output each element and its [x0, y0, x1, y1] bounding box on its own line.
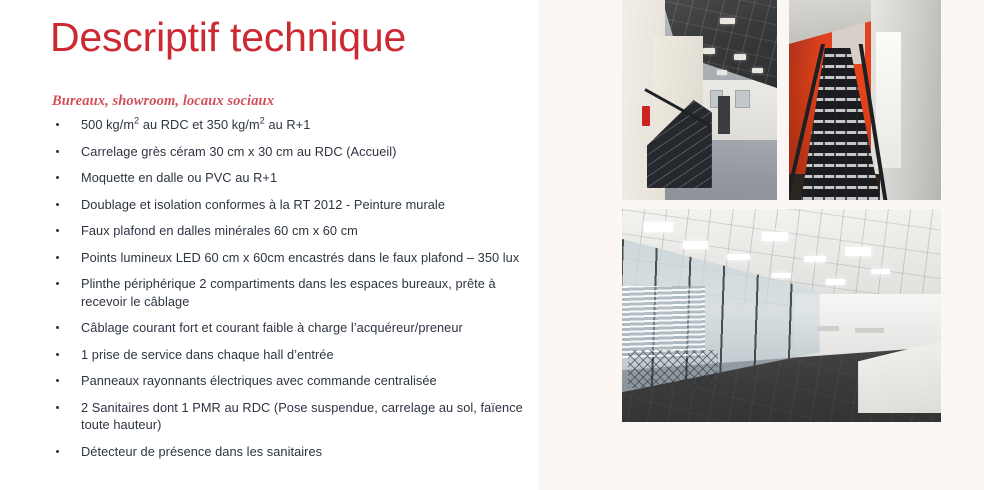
hall-ceiling-light: [752, 68, 763, 73]
bullet-dot-icon: [56, 256, 59, 259]
list-item-text: Carrelage grès céram 30 cm x 30 cm au RD…: [81, 144, 396, 159]
bullet-dot-icon: [56, 176, 59, 179]
office-led-panel: [871, 269, 890, 274]
list-item: Câblage courant fort et courant faible à…: [50, 319, 528, 337]
bullet-dot-icon: [56, 326, 59, 329]
list-item: 500 kg/m2 au RDC et 350 kg/m2 au R+1: [50, 116, 528, 134]
bullet-dot-icon: [56, 379, 59, 382]
photo-entrance-hall: [622, 0, 777, 200]
list-item-text: Points lumineux LED 60 cm x 60cm encastr…: [81, 250, 519, 265]
hall-ceiling-light: [703, 48, 715, 54]
photo-red-stairwell: [789, 0, 941, 200]
list-item: Détecteur de présence dans les sanitaire…: [50, 443, 528, 461]
stairwell-wall-recess: [876, 32, 902, 168]
list-item-text: 1 prise de service dans chaque hall d’en…: [81, 347, 334, 362]
hall-ceiling-light: [734, 54, 746, 60]
office-radiator: [817, 326, 839, 331]
bullet-dot-icon: [56, 353, 59, 356]
office-mesh-panel: [628, 350, 717, 388]
slide-root: Descriptif technique Bureaux, showroom, …: [0, 0, 984, 490]
section-subtitle: Bureaux, showroom, locaux sociaux: [52, 93, 274, 110]
list-item-text: Panneaux rayonnants électriques avec com…: [81, 373, 437, 388]
list-item-text: 500 kg/m2 au RDC et 350 kg/m2 au R+1: [81, 117, 310, 132]
text-panel: Descriptif technique Bureaux, showroom, …: [0, 0, 538, 490]
list-item-text: Plinthe périphérique 2 compartiments dan…: [81, 276, 496, 309]
bullet-dot-icon: [56, 450, 59, 453]
bullet-dot-icon: [56, 203, 59, 206]
list-item-text: 2 Sanitaires dont 1 PMR au RDC (Pose sus…: [81, 400, 523, 433]
office-radiator: [855, 328, 884, 333]
office-led-panel: [727, 254, 749, 260]
page-title: Descriptif technique: [50, 10, 406, 64]
list-item: Carrelage grès céram 30 cm x 30 cm au RD…: [50, 143, 528, 161]
list-item: 1 prise de service dans chaque hall d’en…: [50, 346, 528, 364]
bullet-dot-icon: [56, 406, 59, 409]
office-window-blinds: [622, 286, 705, 358]
fire-extinguisher-icon: [642, 106, 650, 126]
office-led-panel: [826, 279, 845, 284]
hall-ceiling-light: [717, 70, 728, 75]
bullet-dot-icon: [56, 123, 59, 126]
list-item-text: Câblage courant fort et courant faible à…: [81, 320, 463, 335]
bullet-dot-icon: [56, 229, 59, 232]
list-item-text: Doublage et isolation conformes à la RT …: [81, 197, 445, 212]
list-item: Panneaux rayonnants électriques avec com…: [50, 372, 528, 390]
photo-entrance-hall-content: [622, 0, 777, 200]
list-item: Moquette en dalle ou PVC au R+1: [50, 169, 528, 187]
bullet-dot-icon: [56, 150, 59, 153]
list-item: Doublage et isolation conformes à la RT …: [50, 196, 528, 214]
list-item: Faux plafond en dalles minérales 60 cm x…: [50, 222, 528, 240]
specification-bullet-list: 500 kg/m2 au RDC et 350 kg/m2 au R+1 Car…: [50, 116, 528, 469]
list-item: Points lumineux LED 60 cm x 60cm encastr…: [50, 249, 528, 267]
photo-open-plan-office: [622, 209, 941, 422]
list-item-text: Détecteur de présence dans les sanitaire…: [81, 444, 322, 459]
office-led-panel: [845, 247, 871, 256]
office-led-panel: [644, 222, 673, 233]
office-led-panel: [683, 241, 709, 250]
list-item-text: Moquette en dalle ou PVC au R+1: [81, 170, 277, 185]
list-item-text: Faux plafond en dalles minérales 60 cm x…: [81, 223, 358, 238]
office-led-panel: [762, 232, 788, 241]
office-led-panel: [804, 256, 826, 262]
hall-ceiling-light: [720, 18, 736, 24]
hall-doorway: [718, 96, 730, 134]
hall-window: [735, 90, 749, 108]
office-led-panel: [772, 273, 791, 278]
photo-red-stairwell-content: [789, 0, 941, 200]
bullet-dot-icon: [56, 282, 59, 285]
list-item: 2 Sanitaires dont 1 PMR au RDC (Pose sus…: [50, 399, 528, 434]
list-item: Plinthe périphérique 2 compartiments dan…: [50, 275, 528, 310]
photo-open-plan-office-content: [622, 209, 941, 422]
